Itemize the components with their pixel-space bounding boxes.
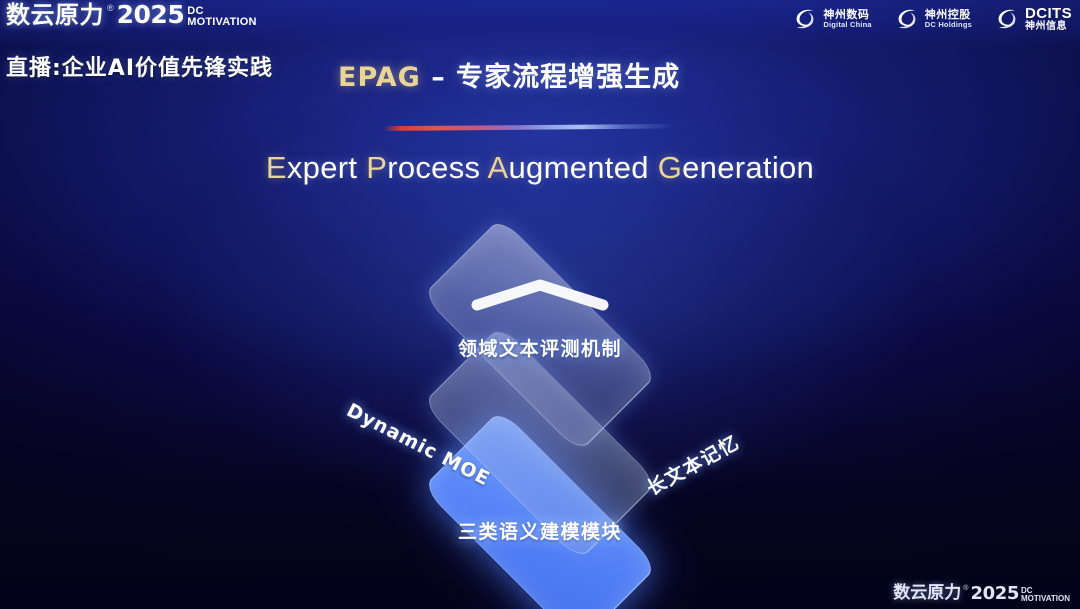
watermark-name-cn: 数云原力 xyxy=(893,584,961,603)
layered-stack-diagram: 领域文本评测机制 Dynamic MOE 长文本记忆 三类语义建模模块 xyxy=(290,230,790,585)
partner-logo-dc-holdings: 神州控股 DC Holdings xyxy=(894,6,972,32)
title-acronym: EPAG xyxy=(338,62,421,93)
partner-logo-text: DCITS 神州信息 xyxy=(1025,6,1072,32)
subtitle-text-1: xpert xyxy=(287,150,366,185)
partner-logo-text: 神州控股 DC Holdings xyxy=(925,9,972,28)
partner-name-en: DCITS xyxy=(1025,6,1072,22)
footer-watermark: 数云原力 ® 2025 DC MOTIVATION xyxy=(893,584,1070,603)
subtitle-initial-2: P xyxy=(366,150,387,185)
partner-logo-row: 神州数码 Digital China 神州控股 DC Holdings DCIT… xyxy=(792,6,1072,32)
watermark-dc-motivation: DC MOTIVATION xyxy=(1021,584,1070,603)
subtitle-initial-6: G xyxy=(658,150,682,185)
partner-name-cn: 神州信息 xyxy=(1025,22,1072,33)
subtitle-text-5: ugmented xyxy=(509,150,658,185)
swirl-icon xyxy=(994,6,1020,32)
slide-subtitle: Expert Process Augmented Generation xyxy=(0,150,1080,186)
subtitle-initial-4: A xyxy=(488,150,509,185)
swirl-icon xyxy=(792,6,818,32)
partner-logo-digital-china: 神州数码 Digital China xyxy=(792,6,871,32)
stack-label-middle-right: 长文本记忆 xyxy=(642,428,745,501)
brand-name-cn: 数云原力 xyxy=(6,2,104,28)
brand-year: 2025 xyxy=(117,2,185,28)
partner-logo-text: 神州数码 Digital China xyxy=(823,9,871,28)
swirl-icon xyxy=(894,6,920,32)
stack-label-top: 领域文本评测机制 xyxy=(458,334,622,361)
subtitle-text-3: rocess xyxy=(387,150,487,185)
title-chinese: 专家流程增强生成 xyxy=(456,62,680,93)
brand-logo: 数云原力 ® 2025 DC MOTIVATION xyxy=(6,2,257,28)
partner-name-en: Digital China xyxy=(823,21,871,29)
title-dash: – xyxy=(421,62,456,93)
live-stream-label: 直播:企业AI价值先锋实践 xyxy=(6,50,273,82)
partner-name-en: DC Holdings xyxy=(925,21,972,29)
partner-logo-dcits: DCITS 神州信息 xyxy=(994,6,1072,32)
brand-dc-motivation: DC MOTIVATION xyxy=(187,2,256,28)
watermark-dc-line2: MOTIVATION xyxy=(1021,595,1070,603)
brand-dc-line2: MOTIVATION xyxy=(187,17,256,28)
watermark-registered-mark: ® xyxy=(963,584,968,593)
slide-title: EPAG – 专家流程增强生成 xyxy=(338,55,680,94)
slide-canvas: 数云原力 ® 2025 DC MOTIVATION 直播:企业AI价值先锋实践 … xyxy=(0,0,1080,609)
stack-label-bottom: 三类语义建模模块 xyxy=(458,517,622,544)
chevron-up-icon xyxy=(470,278,610,312)
subtitle-text-7: eneration xyxy=(682,150,814,185)
subtitle-initial-0: E xyxy=(266,150,287,185)
watermark-year: 2025 xyxy=(970,584,1019,603)
registered-mark: ® xyxy=(107,2,114,14)
title-divider xyxy=(383,124,675,131)
